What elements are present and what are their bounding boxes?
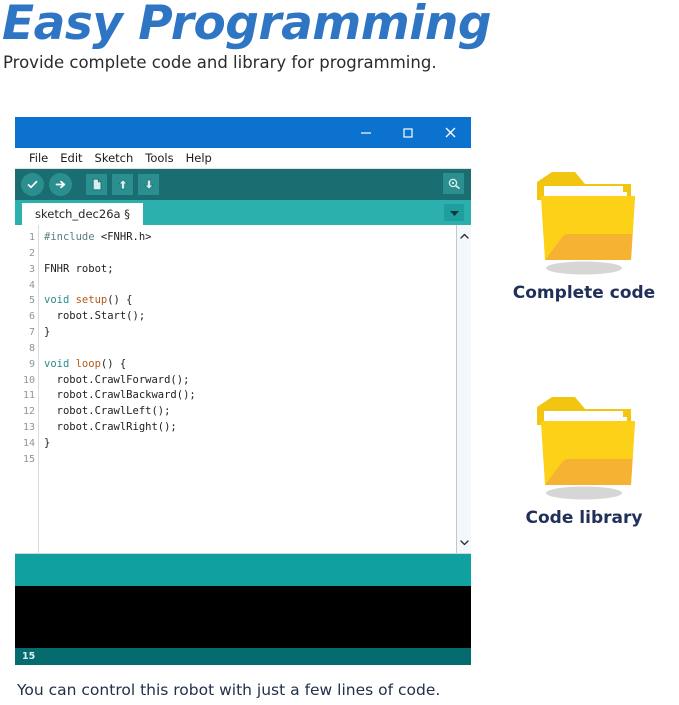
folder-icon: [519, 385, 649, 503]
code-text[interactable]: #include <FNHR.h> FNHR robot; void setup…: [39, 225, 456, 553]
line-number: 7: [15, 325, 38, 341]
code-token: FNHR robot;: [44, 263, 114, 275]
code-token: void: [44, 294, 76, 306]
sketch-tab[interactable]: sketch_dec26a §: [22, 203, 143, 225]
feature-complete-code: Complete code: [489, 160, 679, 303]
chevron-down-icon[interactable]: [444, 204, 464, 221]
open-icon[interactable]: [112, 174, 133, 195]
code-token: #include: [44, 231, 101, 243]
line-number: 15: [15, 452, 38, 468]
line-number: 10: [15, 373, 38, 389]
code-line: void setup() {: [44, 293, 456, 309]
line-number: 4: [15, 278, 38, 294]
upload-icon[interactable]: [49, 173, 72, 196]
code-token: robot.CrawlForward();: [44, 374, 189, 386]
line-number-gutter: 1 2 3 4 5 6 7 8 9 10 11 12 13 14 15: [15, 225, 39, 553]
code-line: robot.Start();: [44, 309, 456, 325]
code-line: robot.CrawlRight();: [44, 420, 456, 436]
code-line: FNHR robot;: [44, 262, 456, 278]
line-number: 5: [15, 293, 38, 309]
code-line: [44, 452, 456, 468]
serial-monitor-icon[interactable]: [443, 173, 464, 194]
line-number: 8: [15, 341, 38, 357]
code-line: [44, 341, 456, 357]
code-token: robot.Start();: [44, 310, 145, 322]
verify-icon[interactable]: [21, 173, 44, 196]
maximize-icon[interactable]: [387, 117, 429, 148]
chevron-down-icon[interactable]: [460, 533, 469, 551]
sketch-tab-bar: sketch_dec26a §: [15, 200, 471, 225]
feature-label: Code library: [489, 508, 679, 528]
code-line: robot.CrawlForward();: [44, 373, 456, 389]
page-title: Easy Programming: [2, 0, 491, 51]
code-editor[interactable]: 1 2 3 4 5 6 7 8 9 10 11 12 13 14 15 #inc…: [15, 225, 471, 554]
menu-bar: File Edit Sketch Tools Help: [15, 148, 471, 169]
code-token: robot.CrawlLeft();: [44, 405, 170, 417]
code-line: }: [44, 436, 456, 452]
code-token: void: [44, 358, 76, 370]
new-icon[interactable]: [86, 174, 107, 195]
window-titlebar: [15, 117, 471, 148]
code-line: #include <FNHR.h>: [44, 230, 456, 246]
arduino-ide-window: File Edit Sketch Tools Help sketch_dec26…: [15, 117, 471, 673]
code-token: <FNHR.h>: [101, 231, 152, 243]
line-number: 2: [15, 246, 38, 262]
code-line: [44, 246, 456, 262]
line-number: 9: [15, 357, 38, 373]
feature-code-library: Code library: [489, 385, 679, 528]
line-number: 11: [15, 388, 38, 404]
menu-item-tools[interactable]: Tools: [139, 151, 179, 165]
page-subtitle: Provide complete code and library for pr…: [3, 53, 437, 72]
line-number: 1: [15, 230, 38, 246]
save-icon[interactable]: [138, 174, 159, 195]
code-line: }: [44, 325, 456, 341]
menu-item-sketch[interactable]: Sketch: [89, 151, 140, 165]
line-number: 6: [15, 309, 38, 325]
line-number: 14: [15, 436, 38, 452]
status-bottom-bar: 15: [15, 648, 471, 665]
code-line: [44, 278, 456, 294]
line-number: 3: [15, 262, 38, 278]
code-line: robot.CrawlBackward();: [44, 388, 456, 404]
code-line: robot.CrawlLeft();: [44, 404, 456, 420]
menu-item-help[interactable]: Help: [180, 151, 218, 165]
code-token: }: [44, 437, 50, 449]
code-line: void loop() {: [44, 357, 456, 373]
line-number: 13: [15, 420, 38, 436]
code-token: }: [44, 326, 50, 338]
menu-item-edit[interactable]: Edit: [54, 151, 88, 165]
folder-icon: [519, 160, 649, 278]
feature-label: Complete code: [489, 283, 679, 303]
close-icon[interactable]: [429, 117, 471, 148]
chevron-up-icon[interactable]: [460, 227, 469, 245]
toolbar: [15, 169, 471, 200]
window-controls: [345, 117, 471, 148]
editor-scrollbar[interactable]: [456, 225, 471, 553]
console-output[interactable]: [15, 586, 471, 648]
code-token: loop: [76, 358, 101, 370]
minimize-icon[interactable]: [345, 117, 387, 148]
code-token: setup: [76, 294, 108, 306]
code-token: robot.CrawlRight();: [44, 421, 177, 433]
code-token: () {: [101, 358, 126, 370]
line-indicator: 15: [22, 651, 35, 662]
code-token: () {: [107, 294, 132, 306]
status-strip: [15, 554, 471, 586]
bottom-caption: You can control this robot with just a f…: [17, 681, 440, 699]
code-token: robot.CrawlBackward();: [44, 389, 196, 401]
menu-item-file[interactable]: File: [23, 151, 54, 165]
line-number: 12: [15, 404, 38, 420]
